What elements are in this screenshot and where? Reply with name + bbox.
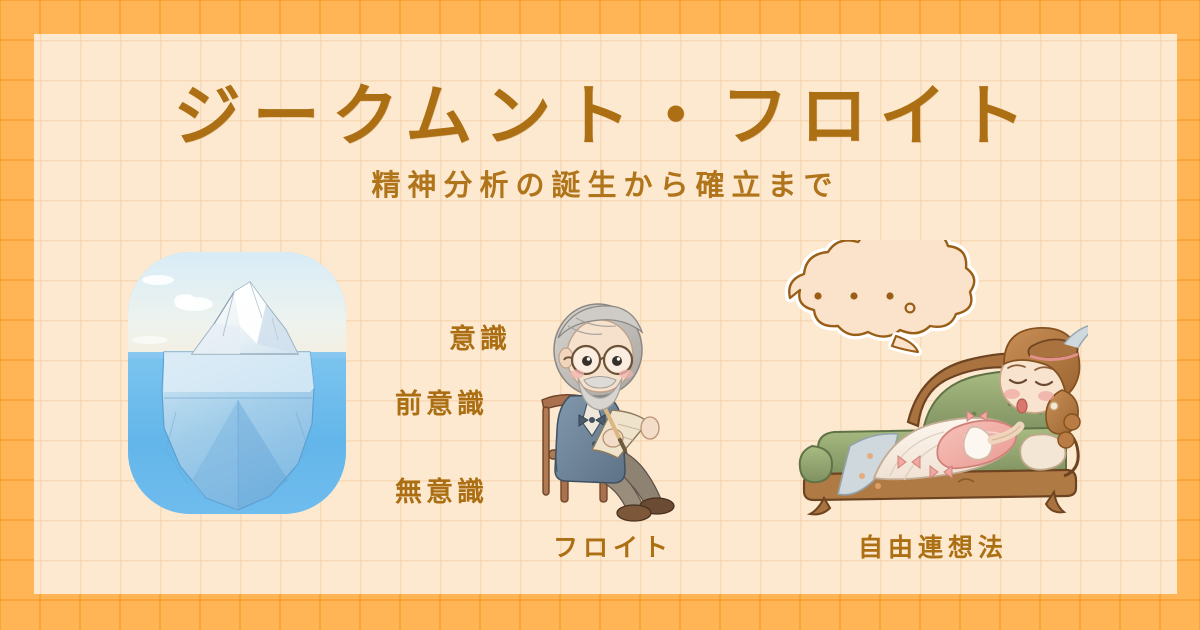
couch-caption: 自由連想法 [758,528,1108,564]
free-association-icon [778,240,1088,520]
iceberg-label-preconscious: 前意識 [395,382,488,421]
iceberg-icon [128,252,346,514]
iceberg-label-unconscious: 無意識 [395,470,488,509]
couch-figure [778,240,1088,520]
inner-panel: ジークムント・フロイト 精神分析の誕生から確立まで [34,34,1177,594]
page-title: ジークムント・フロイト [34,62,1177,159]
freud-icon [518,292,708,522]
thought-bubble-shape [789,240,974,352]
iceberg-label-conscious: 意識 [449,317,511,356]
poster-canvas: ジークムント・フロイト 精神分析の誕生から確立まで [0,0,1200,630]
freud-figure [518,292,708,522]
freud-caption: フロイト [498,528,728,564]
iceberg-figure [128,252,346,514]
page-subtitle: 精神分析の誕生から確立まで [34,162,1177,204]
iceberg-image-frame [128,252,346,514]
